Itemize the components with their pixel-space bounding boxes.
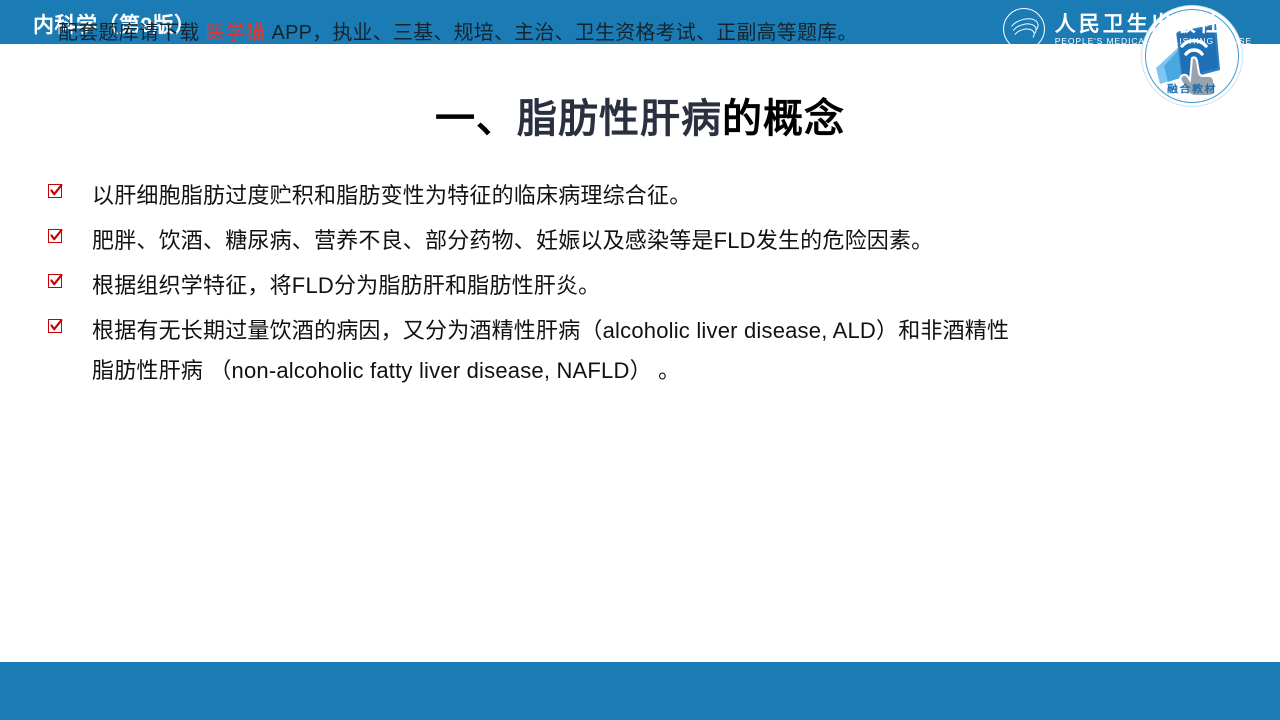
page-title-suffix: 的概念 [722, 97, 845, 141]
list-item: 根据组织学特征，将FLD分为脂肪肝和脂肪性肝炎。 [48, 266, 1238, 306]
footer-promo-text: 配套题库请下载 医学猫 APP，执业、三基、规培、主治、卫生资格考试、正副高等题… [58, 16, 858, 45]
list-item-text-block: 根据有无长期过量饮酒的病因，又分为酒精性肝病（alcoholic liver d… [92, 311, 1009, 391]
checked-box-icon [48, 274, 64, 290]
list-item-text: 肥胖、饮酒、糖尿病、营养不良、部分药物、妊娠以及感染等是FLD发生的危险因素。 [92, 221, 933, 261]
page-title-prefix: 一、 [435, 97, 517, 141]
page-title: 一、脂肪性肝病的概念 [0, 86, 1280, 144]
checked-box-icon [48, 184, 64, 200]
list-item-text: 以肝细胞脂肪过度贮积和脂肪变性为特征的临床病理综合征。 [92, 176, 691, 216]
publisher-logo: 人民卫生出版社 PEOPLE'S MEDICAL PUBLISHING HOUS… [1003, 8, 1252, 50]
page-title-mid: 脂肪性肝病 [517, 97, 722, 141]
checked-box-icon [48, 229, 64, 245]
list-item: 肥胖、饮酒、糖尿病、营养不良、部分药物、妊娠以及感染等是FLD发生的危险因素。 [48, 221, 1238, 261]
publisher-name-block: 人民卫生出版社 PEOPLE'S MEDICAL PUBLISHING HOUS… [1055, 12, 1252, 47]
list-item: 以肝细胞脂肪过度贮积和脂肪变性为特征的临床病理综合征。 [48, 176, 1238, 216]
list-item-text-line-2: 脂肪性肝病 （non-alcoholic fatty liver disease… [92, 358, 680, 383]
publisher-name-en: PEOPLE'S MEDICAL PUBLISHING HOUSE [1055, 35, 1252, 47]
publisher-name-cn: 人民卫生出版社 [1055, 12, 1252, 35]
footer-app-name: 医学猫 [205, 22, 266, 44]
list-item: 根据有无长期过量饮酒的病因，又分为酒精性肝病（alcoholic liver d… [48, 311, 1238, 391]
publisher-emblem-icon [1003, 8, 1045, 50]
footer-bar [0, 662, 1280, 720]
list-item-text: 根据组织学特征，将FLD分为脂肪肝和脂肪性肝炎。 [92, 266, 600, 306]
list-item-text-line-1: 根据有无长期过量饮酒的病因，又分为酒精性肝病（alcoholic liver d… [92, 318, 1009, 343]
footer-text-before: 配套题库请下载 [58, 22, 205, 44]
bullet-list: 以肝细胞脂肪过度贮积和脂肪变性为特征的临床病理综合征。 肥胖、饮酒、糖尿病、营养… [48, 176, 1238, 396]
footer-text-after: APP，执业、三基、规培、主治、卫生资格考试、正副高等题库。 [266, 22, 858, 44]
checked-box-icon [48, 319, 64, 335]
